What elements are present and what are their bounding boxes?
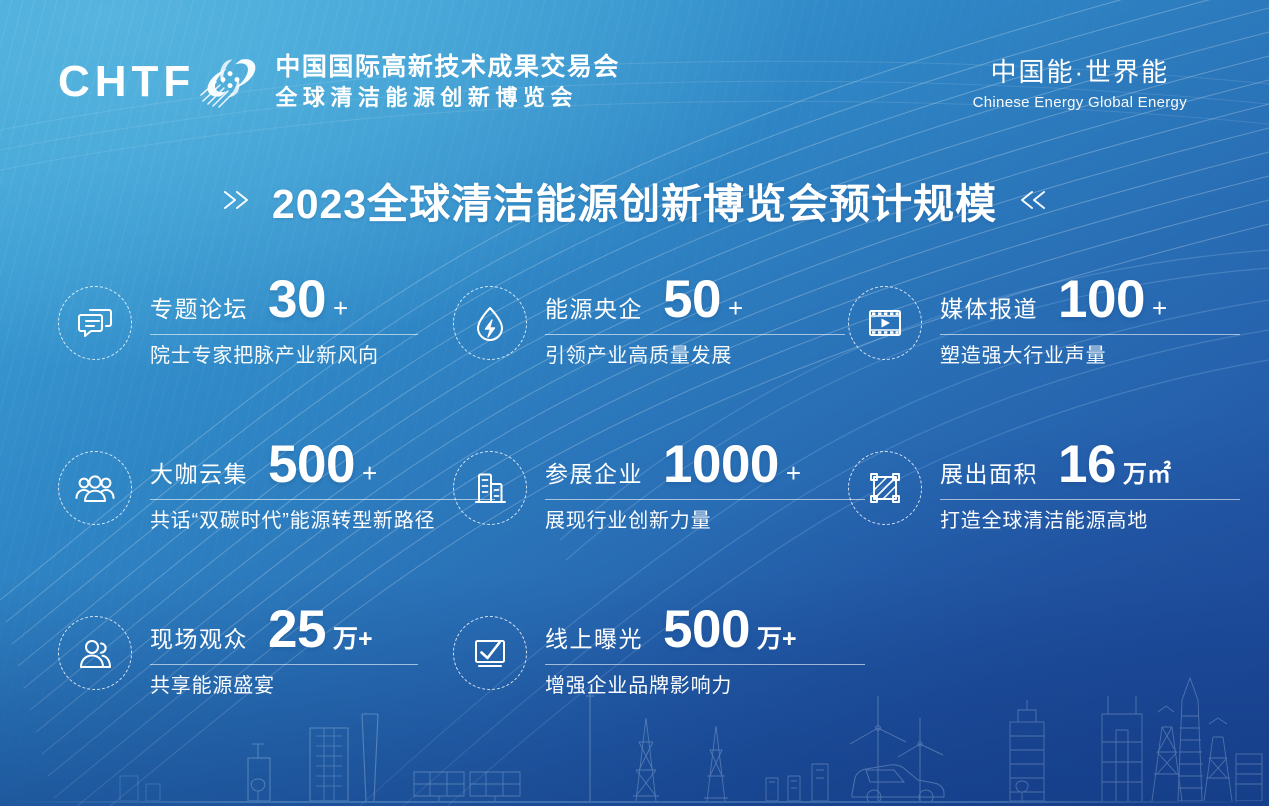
stat-item-forums[interactable]: 专题论坛 30 + 院士专家把脉产业新风向 [58, 272, 453, 437]
stat-divider [545, 334, 845, 335]
slogan-block: 中国能·世界能 Chinese Energy Global Energy [973, 57, 1187, 111]
stat-divider [545, 499, 865, 500]
people-group-icon [74, 468, 116, 508]
stat-item-onsite-visitors[interactable]: 现场观众 25 万+ 共享能源盛宴 [58, 602, 453, 767]
single-person-icon [75, 633, 115, 673]
page-title: 2023全球清洁能源创新博览会预计规模 [272, 170, 997, 230]
stat-label: 参展企业 [545, 463, 643, 486]
page-header: CHTF 中国国际高新技术成果交易会 [0, 0, 1269, 150]
stat-value: 500 [268, 441, 355, 490]
stat-divider [940, 334, 1240, 335]
stat-headline: 大咖云集 500 + [150, 441, 495, 490]
stat-icon-badge [58, 286, 132, 360]
stat-headline: 媒体报道 100 + [940, 276, 1240, 325]
stat-item-exhibitors[interactable]: 参展企业 1000 + 展现行业创新力量 [453, 437, 848, 602]
stat-unit: + [362, 460, 377, 486]
stat-value: 50 [663, 276, 721, 325]
stat-label: 展出面积 [940, 463, 1038, 486]
stat-label: 媒体报道 [940, 298, 1038, 321]
film-play-icon [865, 303, 905, 343]
stat-divider [150, 499, 495, 500]
slogan-chinese: 中国能·世界能 [973, 57, 1187, 88]
stat-description: 增强企业品牌影响力 [545, 675, 865, 698]
water-drop-bolt-icon [470, 303, 510, 343]
chtf-logo[interactable]: CHTF 中国国际高新技术成果交易会 [58, 52, 620, 111]
chtf-logo-chinese: 中国国际高新技术成果交易会 全球清洁能源创新博览会 [275, 52, 620, 111]
stat-headline: 现场观众 25 万+ [150, 606, 418, 655]
stat-description: 引领产业高质量发展 [545, 345, 845, 368]
stat-headline: 能源央企 50 + [545, 276, 845, 325]
stat-info: 能源央企 50 + 引领产业高质量发展 [545, 272, 845, 368]
chtf-logo-line-2: 全球清洁能源创新博览会 [275, 84, 620, 112]
stat-description: 展现行业创新力量 [545, 510, 865, 533]
stat-value: 1000 [663, 441, 779, 490]
stat-headline: 线上曝光 500 万+ [545, 606, 865, 655]
stat-headline: 专题论坛 30 + [150, 276, 418, 325]
stat-info: 大咖云集 500 + 共话“双碳时代”能源转型新路径 [150, 437, 495, 533]
stat-divider [545, 664, 865, 665]
stat-item-online-exposure[interactable]: 线上曝光 500 万+ 增强企业品牌影响力 [453, 602, 848, 767]
area-measure-icon [865, 468, 905, 508]
chat-bubbles-icon [75, 303, 115, 343]
stat-unit: + [786, 460, 801, 486]
stat-unit: + [1152, 295, 1167, 321]
stat-item-media-coverage[interactable]: 媒体报道 100 + 塑造强大行业声量 [848, 272, 1243, 437]
stat-icon-badge [453, 616, 527, 690]
chtf-swirl-emblem-icon [199, 49, 261, 111]
stat-label: 现场观众 [150, 628, 248, 651]
stat-item-vip-guests[interactable]: 大咖云集 500 + 共话“双碳时代”能源转型新路径 [58, 437, 453, 602]
stat-info: 参展企业 1000 + 展现行业创新力量 [545, 437, 865, 533]
stat-description: 打造全球清洁能源高地 [940, 510, 1240, 533]
stat-divider [940, 499, 1240, 500]
stat-info: 线上曝光 500 万+ 增强企业品牌影响力 [545, 602, 865, 698]
stat-icon-badge [58, 616, 132, 690]
stat-label: 线上曝光 [545, 628, 643, 651]
chevron-double-left-icon [1015, 187, 1049, 213]
stat-unit: + [333, 295, 348, 321]
stat-value: 500 [663, 606, 750, 655]
stat-value: 25 [268, 606, 326, 655]
stat-description: 塑造强大行业声量 [940, 345, 1240, 368]
office-building-icon [470, 468, 510, 508]
monitor-check-icon [470, 633, 510, 673]
stat-icon-badge [453, 286, 527, 360]
stat-item-exhibition-area[interactable]: 展出面积 16 万㎡ 打造全球清洁能源高地 [848, 437, 1243, 602]
slogan-english: Chinese Energy Global Energy [973, 94, 1187, 111]
stat-headline: 参展企业 1000 + [545, 441, 865, 490]
stat-icon-badge [58, 451, 132, 525]
page-title-row: 2023全球清洁能源创新博览会预计规模 [0, 170, 1269, 230]
stat-description: 共话“双碳时代”能源转型新路径 [150, 510, 495, 533]
stat-label: 大咖云集 [150, 463, 248, 486]
stat-description: 院士专家把脉产业新风向 [150, 345, 418, 368]
stat-unit: 万+ [333, 627, 373, 652]
stat-unit: 万㎡ [1123, 463, 1171, 487]
stat-label: 能源央企 [545, 298, 643, 321]
stat-info: 媒体报道 100 + 塑造强大行业声量 [940, 272, 1240, 368]
stat-description: 共享能源盛宴 [150, 675, 418, 698]
stat-info: 现场观众 25 万+ 共享能源盛宴 [150, 602, 418, 698]
stat-value: 30 [268, 276, 326, 325]
stat-label: 专题论坛 [150, 298, 248, 321]
stat-divider [150, 334, 418, 335]
stat-info: 展出面积 16 万㎡ 打造全球清洁能源高地 [940, 437, 1240, 533]
stats-grid: 专题论坛 30 + 院士专家把脉产业新风向 能源央企 50 + [58, 272, 1218, 767]
chevron-double-right-icon [220, 187, 254, 213]
stat-value: 100 [1058, 276, 1145, 325]
chtf-wordmark: CHTF [58, 60, 195, 104]
stat-icon-badge [848, 286, 922, 360]
stat-item-energy-soe[interactable]: 能源央企 50 + 引领产业高质量发展 [453, 272, 848, 437]
stat-value: 16 [1058, 441, 1116, 490]
stat-divider [150, 664, 418, 665]
stat-headline: 展出面积 16 万㎡ [940, 441, 1240, 490]
stat-unit: + [728, 295, 743, 321]
chtf-logo-line-1: 中国国际高新技术成果交易会 [275, 52, 620, 84]
stat-unit: 万+ [757, 627, 797, 652]
bottom-baseline [0, 801, 1269, 803]
stat-info: 专题论坛 30 + 院士专家把脉产业新风向 [150, 272, 418, 368]
